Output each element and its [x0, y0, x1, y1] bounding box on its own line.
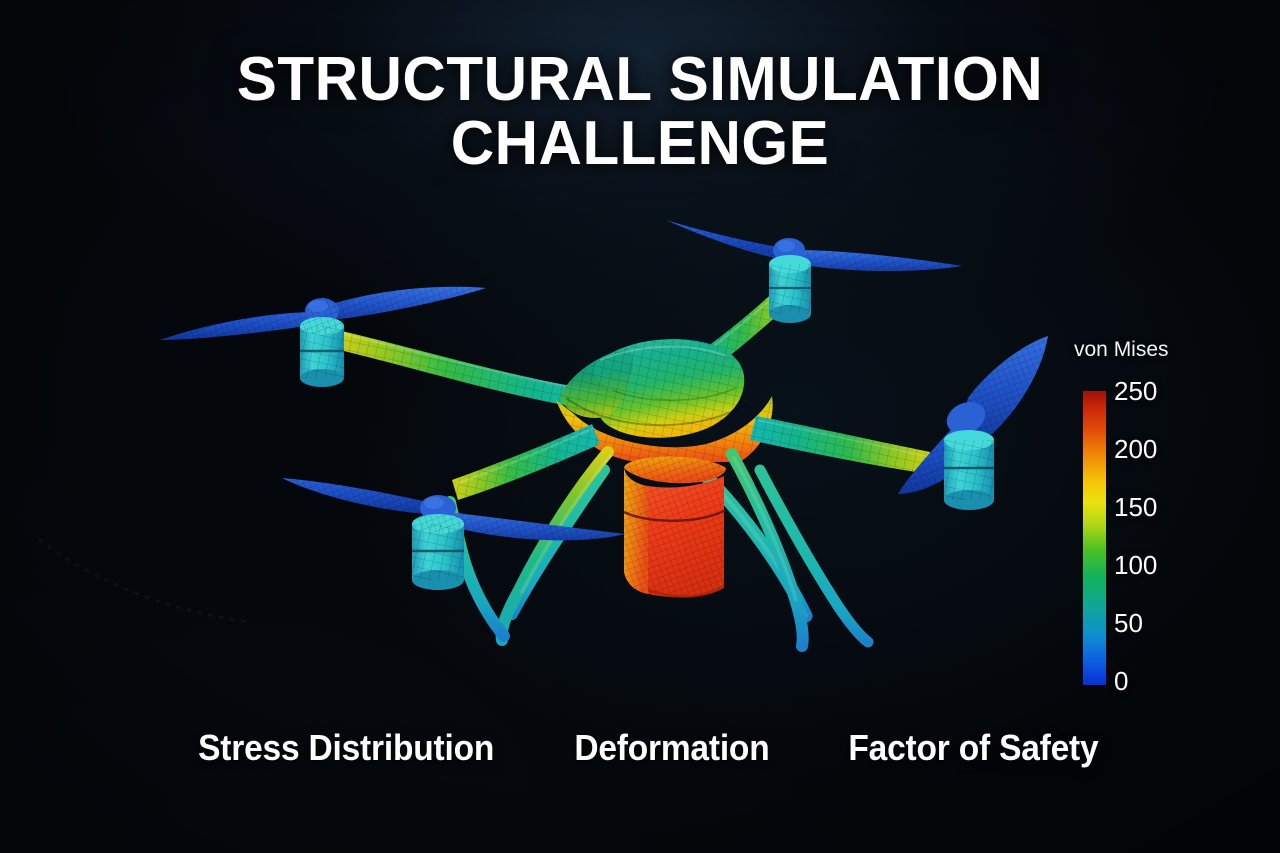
- colorbar-ticks: 250 200 150 100 50 0: [1114, 378, 1254, 698]
- label-stress-distribution: Stress Distribution: [198, 727, 494, 769]
- colorbar-tick-250: 250: [1114, 378, 1157, 404]
- legend-title: von Mises: [1074, 338, 1169, 362]
- title-line-1: STRUCTURAL SIMULATION: [237, 45, 1043, 114]
- colorbar-tick-200: 200: [1114, 436, 1157, 462]
- colorbar-tick-0: 0: [1114, 668, 1128, 694]
- page-title: STRUCTURAL SIMULATION CHALLENGE: [19, 48, 1261, 176]
- colorbar-tick-150: 150: [1114, 494, 1157, 520]
- colorbar-tick-100: 100: [1114, 552, 1157, 578]
- title-line-2: CHALLENGE: [19, 112, 1261, 176]
- analysis-type-labels: Stress Distribution Deformation Factor o…: [0, 727, 1280, 769]
- von-mises-legend: von Mises 250 200 150 100 50 0: [1062, 338, 1262, 708]
- label-deformation: Deformation: [574, 727, 769, 769]
- colorbar-gradient: [1083, 391, 1106, 685]
- label-factor-of-safety: Factor of Safety: [848, 727, 1098, 769]
- simulation-poster: STRUCTURAL SIMULATION CHALLENGE von Mise…: [0, 0, 1280, 853]
- colorbar-tick-50: 50: [1114, 610, 1143, 636]
